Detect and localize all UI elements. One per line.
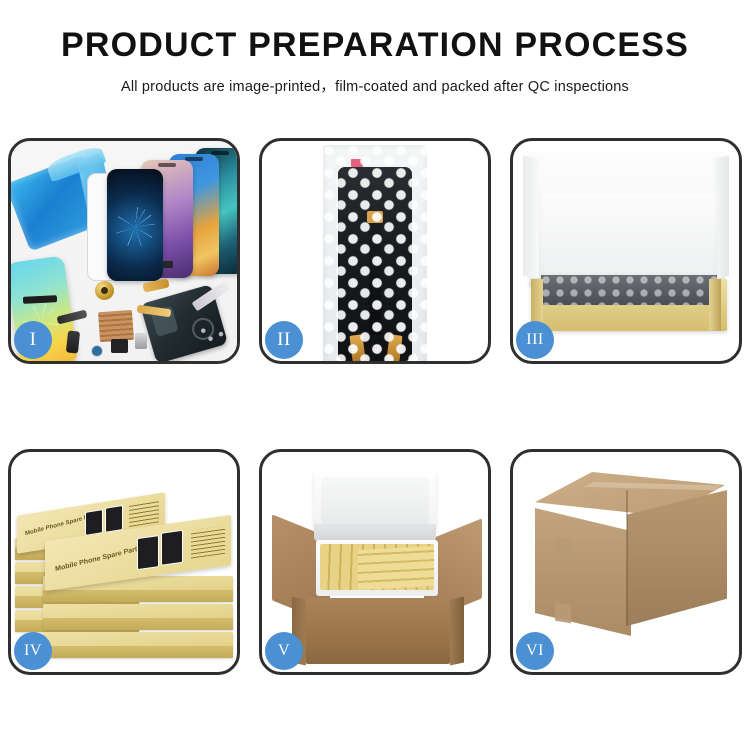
screen-thumbnail xyxy=(137,535,159,570)
product-preparation-infographic: PRODUCT PREPARATION PROCESS All products… xyxy=(0,0,750,750)
vibration-motor-icon xyxy=(95,281,114,300)
step-badge-5: V xyxy=(265,632,303,670)
bubble-wrap-bag-icon xyxy=(323,145,427,361)
step-numeral: III xyxy=(526,331,543,349)
step-panel-4[interactable]: Mobile Phone Spare Parts Mobile Phone Sp… xyxy=(8,449,240,675)
carton-edge-icon xyxy=(626,490,628,626)
screen-thumbnail xyxy=(161,530,183,566)
step-numeral: VI xyxy=(526,642,544,660)
step-panel-5[interactable]: V xyxy=(259,449,491,675)
bubble-highlight-icon xyxy=(323,145,427,361)
connector-grid-icon xyxy=(98,310,134,342)
step-badge-4: IV xyxy=(14,632,52,670)
step-badge-3: III xyxy=(516,321,554,359)
camera-lens-icon xyxy=(91,345,103,357)
stacked-box xyxy=(43,604,233,630)
screen-thumbnail xyxy=(105,505,123,533)
box-label-text: Mobile Phone Spare Parts xyxy=(55,545,142,573)
spec-lines xyxy=(191,526,225,559)
tape-seam-icon xyxy=(555,603,571,624)
kraft-boxes-inside-icon xyxy=(358,546,434,590)
box-side xyxy=(43,590,233,602)
page-title: PRODUCT PREPARATION PROCESS xyxy=(0,28,750,64)
step-badge-6: VI xyxy=(516,632,554,670)
step-badge-1: I xyxy=(14,321,52,359)
carton-left-face-icon xyxy=(535,508,631,636)
screen-thumbnail xyxy=(85,509,103,536)
step-numeral: I xyxy=(30,329,37,351)
lid-flap-left-icon xyxy=(523,156,539,279)
step-panel-3[interactable]: III xyxy=(510,138,742,364)
steps-grid: I II xyxy=(8,138,742,675)
carton-body-icon xyxy=(306,598,450,664)
page-subtitle: All products are image-printed，film-coat… xyxy=(0,75,750,96)
step-panel-1[interactable]: I xyxy=(8,138,240,364)
tape-seam-icon xyxy=(555,537,571,558)
box-side xyxy=(43,618,233,630)
box-side xyxy=(43,646,233,658)
step-numeral: V xyxy=(278,642,290,660)
phone-screen-cracked-dark-icon xyxy=(107,169,163,281)
ic-chip-icon xyxy=(163,261,173,268)
earpiece-speaker-icon xyxy=(111,339,128,353)
foam-sheet-icon xyxy=(539,193,717,279)
notch-icon xyxy=(158,163,176,167)
battery-icon xyxy=(135,333,147,349)
step-panel-2[interactable]: II xyxy=(259,138,491,364)
flex-cable-icon xyxy=(66,330,80,353)
step-badge-2: II xyxy=(265,321,303,359)
bubble-wrapped-contents-icon xyxy=(541,275,717,305)
crack-pattern-icon xyxy=(115,207,155,247)
step-numeral: IV xyxy=(24,642,42,660)
stacked-box xyxy=(43,632,233,658)
styrofoam-lid-icon xyxy=(314,470,436,532)
step-panel-6[interactable]: VI xyxy=(510,449,742,675)
header: PRODUCT PREPARATION PROCESS All products… xyxy=(0,0,750,96)
tray-lip-right-icon xyxy=(709,279,721,331)
spec-lines xyxy=(129,500,159,527)
step-numeral: II xyxy=(277,329,291,351)
